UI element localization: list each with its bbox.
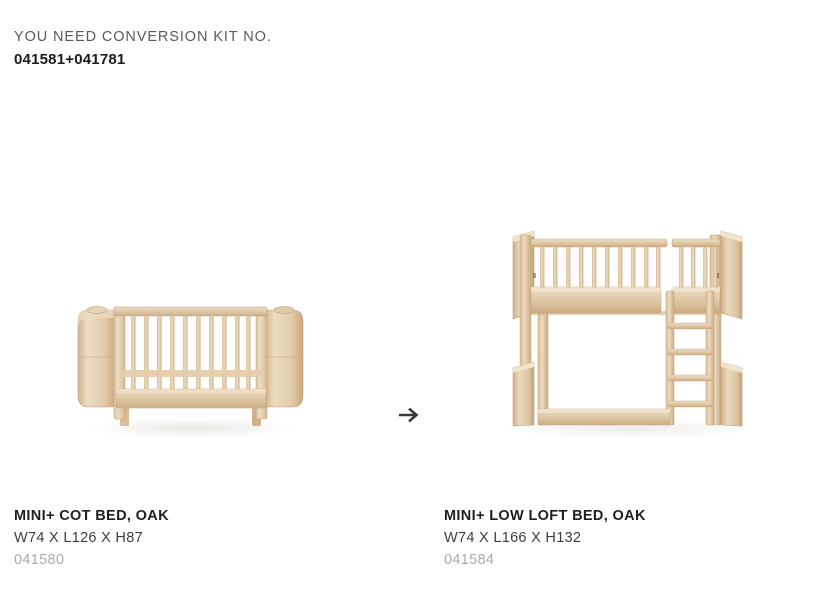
conversion-kit-number: 041581+041781: [14, 49, 614, 71]
conversion-arrow-separator: [398, 403, 422, 427]
conversion-kit-label: YOU NEED CONVERSION KIT NO.: [14, 27, 614, 47]
product-title: MINI+ LOW LOFT BED, OAK: [444, 507, 819, 525]
mini-plus-cot-bed-oak-image: [0, 95, 409, 480]
cot-bed-image-stage: [0, 95, 409, 480]
product-card-cot-bed[interactable]: [0, 95, 409, 515]
caption-cot-bed: MINI+ COT BED, OAK W74 X L126 X H87 0415…: [14, 507, 394, 570]
product-comparison-row: [0, 95, 819, 515]
product-dimensions: W74 X L166 X H132: [444, 528, 819, 548]
arrow-right-icon: [399, 406, 421, 424]
product-title: MINI+ COT BED, OAK: [14, 507, 394, 525]
conversion-kit-page: YOU NEED CONVERSION KIT NO. 041581+04178…: [0, 0, 819, 598]
mini-plus-low-loft-bed-oak-image: [410, 95, 819, 480]
product-sku: 041580: [14, 550, 394, 570]
low-loft-bed-image-stage: [410, 95, 819, 480]
product-card-low-loft-bed[interactable]: [410, 95, 819, 515]
conversion-kit-header: YOU NEED CONVERSION KIT NO. 041581+04178…: [14, 27, 614, 71]
product-dimensions: W74 X L126 X H87: [14, 528, 394, 548]
product-captions-row: MINI+ COT BED, OAK W74 X L126 X H87 0415…: [0, 507, 819, 587]
product-sku: 041584: [444, 550, 819, 570]
caption-low-loft-bed: MINI+ LOW LOFT BED, OAK W74 X L166 X H13…: [444, 507, 819, 570]
